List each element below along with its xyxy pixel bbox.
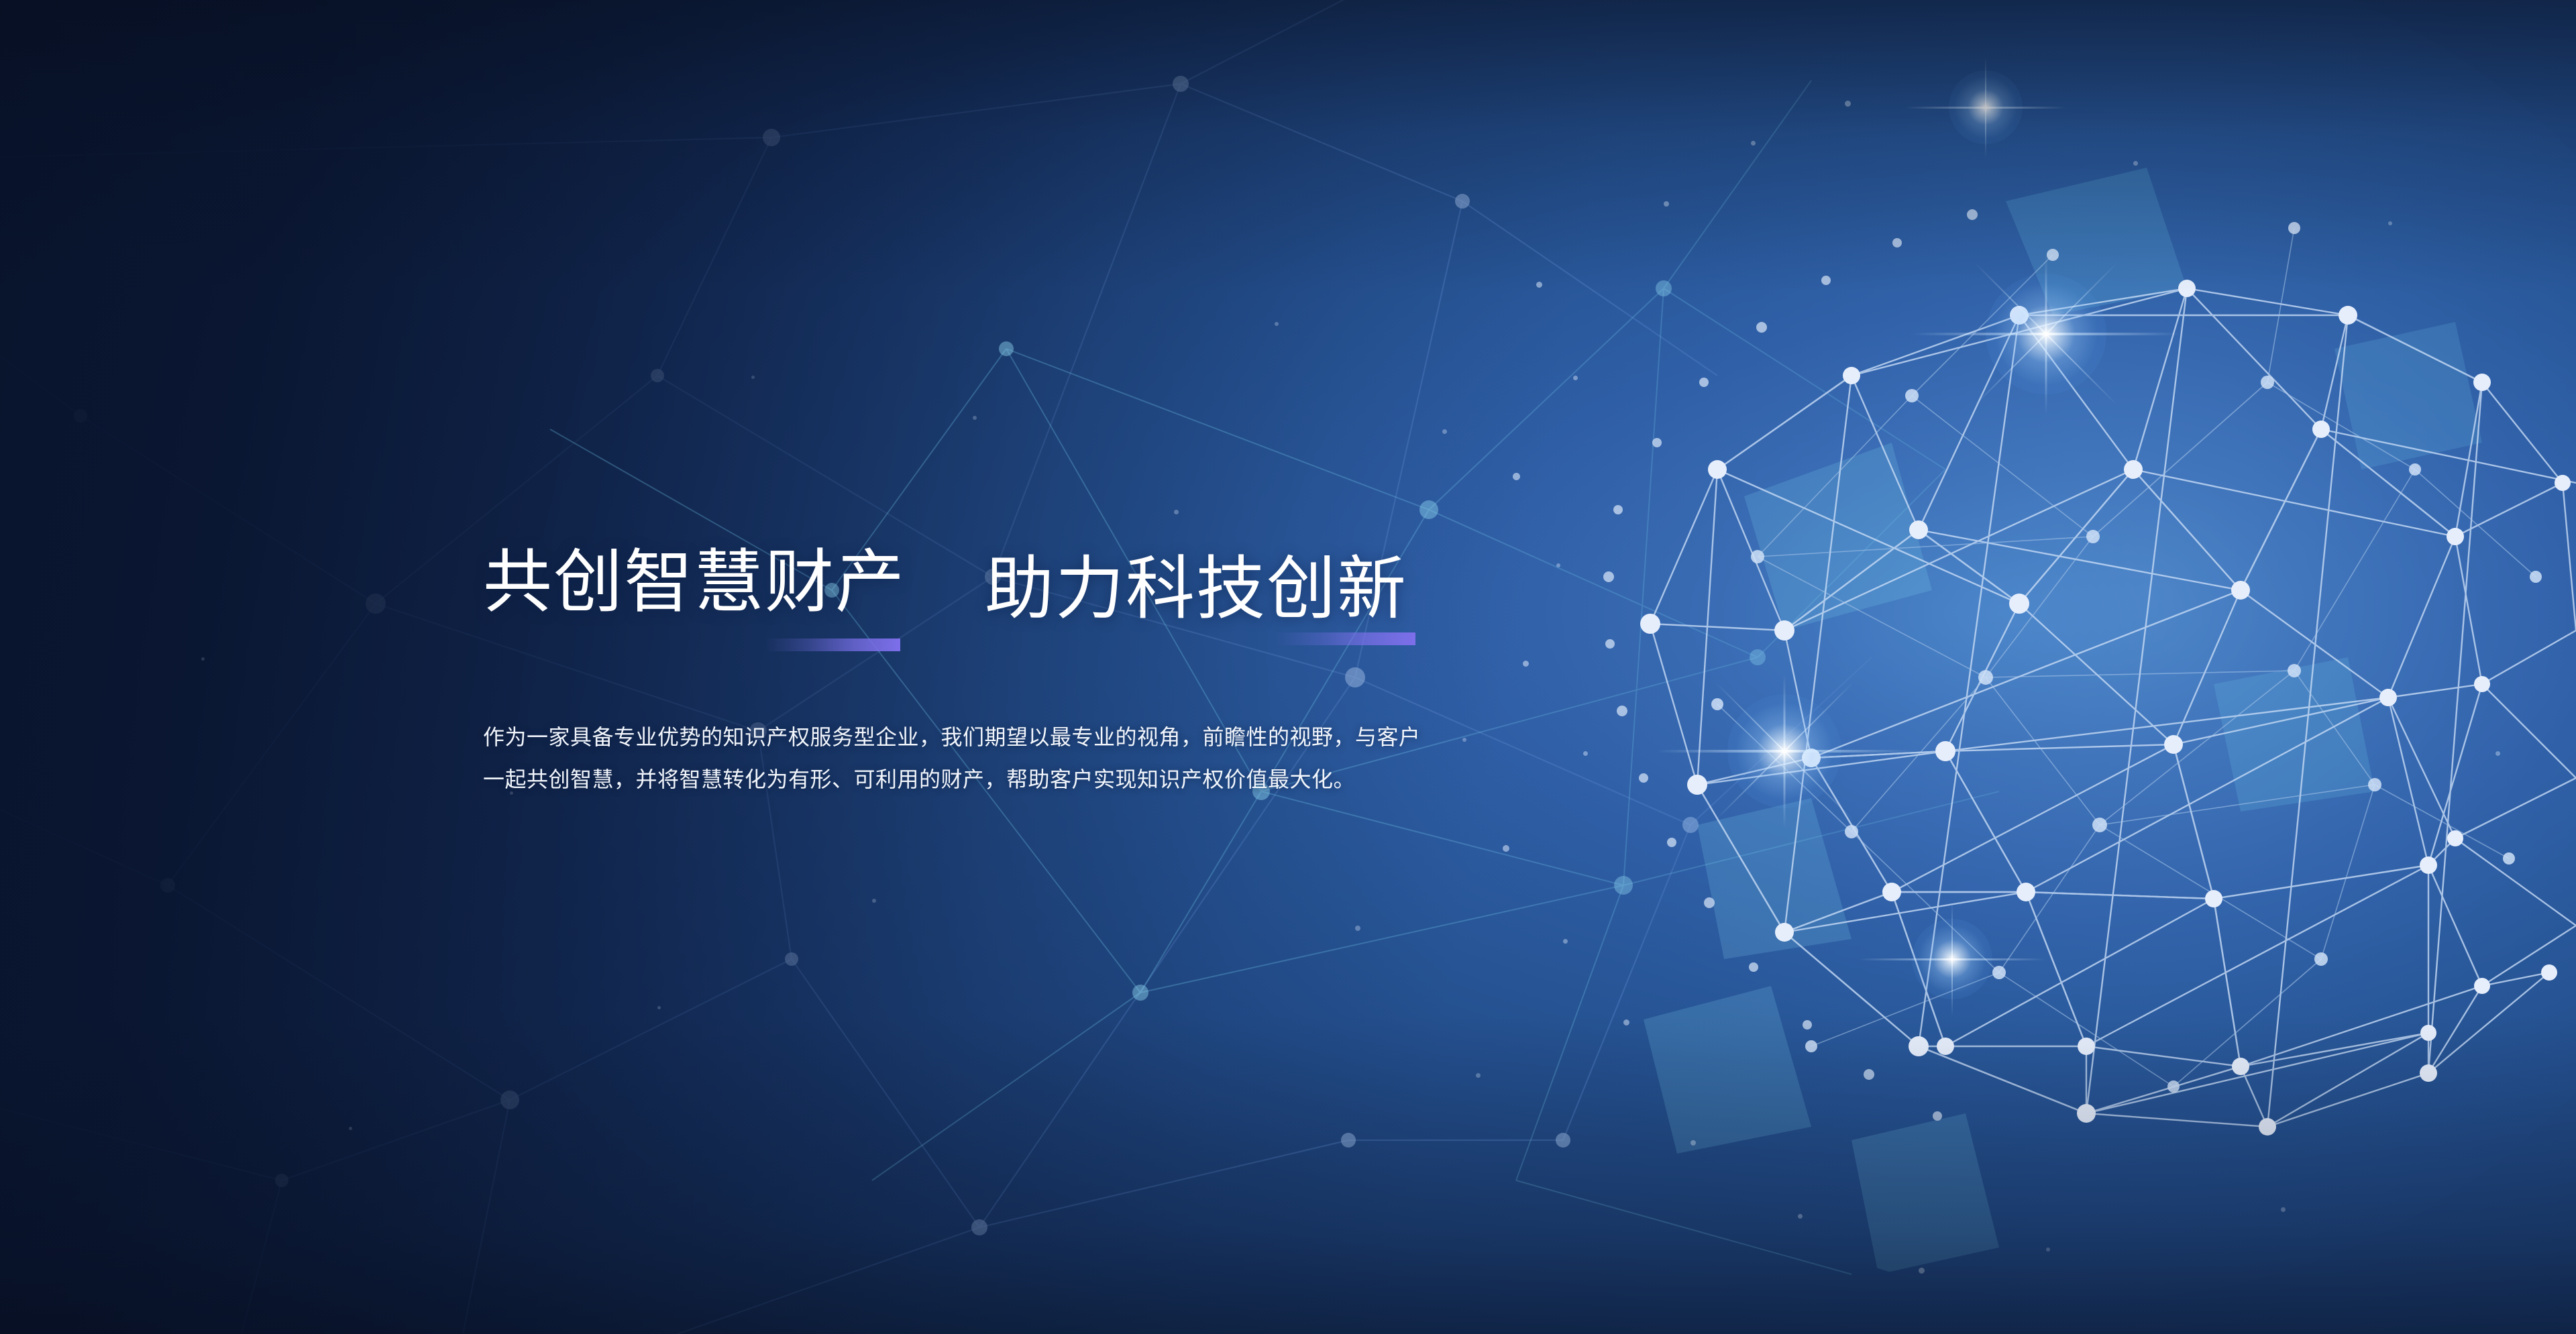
hero-description: 作为一家具备专业优势的知识产权服务型企业，我们期望以最专业的视角，前瞻性的视野，… — [483, 716, 1436, 801]
hero-content: 共创智慧财产 助力科技创新 作为一家具备专业优势的知识产权服务型企业，我们期望以… — [483, 537, 1529, 664]
headline-accent-underline-secondary — [1276, 632, 1415, 645]
hero-banner: 共创智慧财产 助力科技创新 作为一家具备专业优势的知识产权服务型企业，我们期望以… — [0, 0, 2576, 1334]
headline-phrase-secondary: 助力科技创新 — [985, 554, 1407, 623]
hero-headline: 共创智慧财产 助力科技创新 — [483, 537, 1529, 664]
headline-phrase-primary: 共创智慧财产 — [483, 547, 906, 616]
background-edge-shade — [0, 0, 2576, 1334]
headline-accent-underline-primary — [766, 638, 900, 651]
